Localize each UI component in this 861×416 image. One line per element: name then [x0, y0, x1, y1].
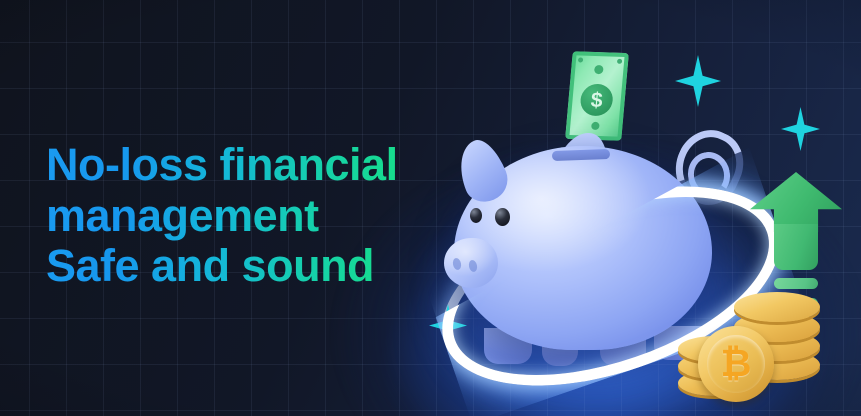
bitcoin-coin-icon: ₿: [698, 326, 774, 402]
headline-line-1: No-loss financial: [46, 140, 466, 190]
piggy-nostril-left: [452, 257, 462, 270]
bitcoin-symbol: ₿: [721, 345, 752, 383]
growth-arrow-up-icon: [750, 172, 842, 302]
arrow-dash-upper: [774, 278, 818, 289]
bill-corner-left: [578, 57, 583, 62]
piggy-nostril-right: [468, 259, 478, 272]
piggy-snout: [444, 238, 498, 288]
bill-corner-right: [617, 59, 622, 64]
bill-dot-top: [594, 65, 604, 74]
dollar-symbol: $: [590, 89, 604, 110]
promo-banner: No-loss financial management Safe and so…: [0, 0, 861, 416]
arrow-stem: [774, 224, 818, 270]
bitcoin-coin-face: ₿: [707, 335, 765, 393]
headline-line-3: Safe and sound: [46, 241, 466, 291]
bill-dollar-seal: $: [579, 83, 614, 116]
piggy-eye-right: [495, 208, 510, 226]
headline-line-2: management: [46, 191, 466, 241]
coin: [734, 292, 820, 322]
piggy-coin-slot: [552, 149, 610, 161]
piggy-eye-left: [470, 208, 482, 223]
headline: No-loss financial management Safe and so…: [46, 140, 466, 291]
coin-stacks: ₿: [678, 292, 861, 416]
arrow-head: [750, 172, 842, 232]
